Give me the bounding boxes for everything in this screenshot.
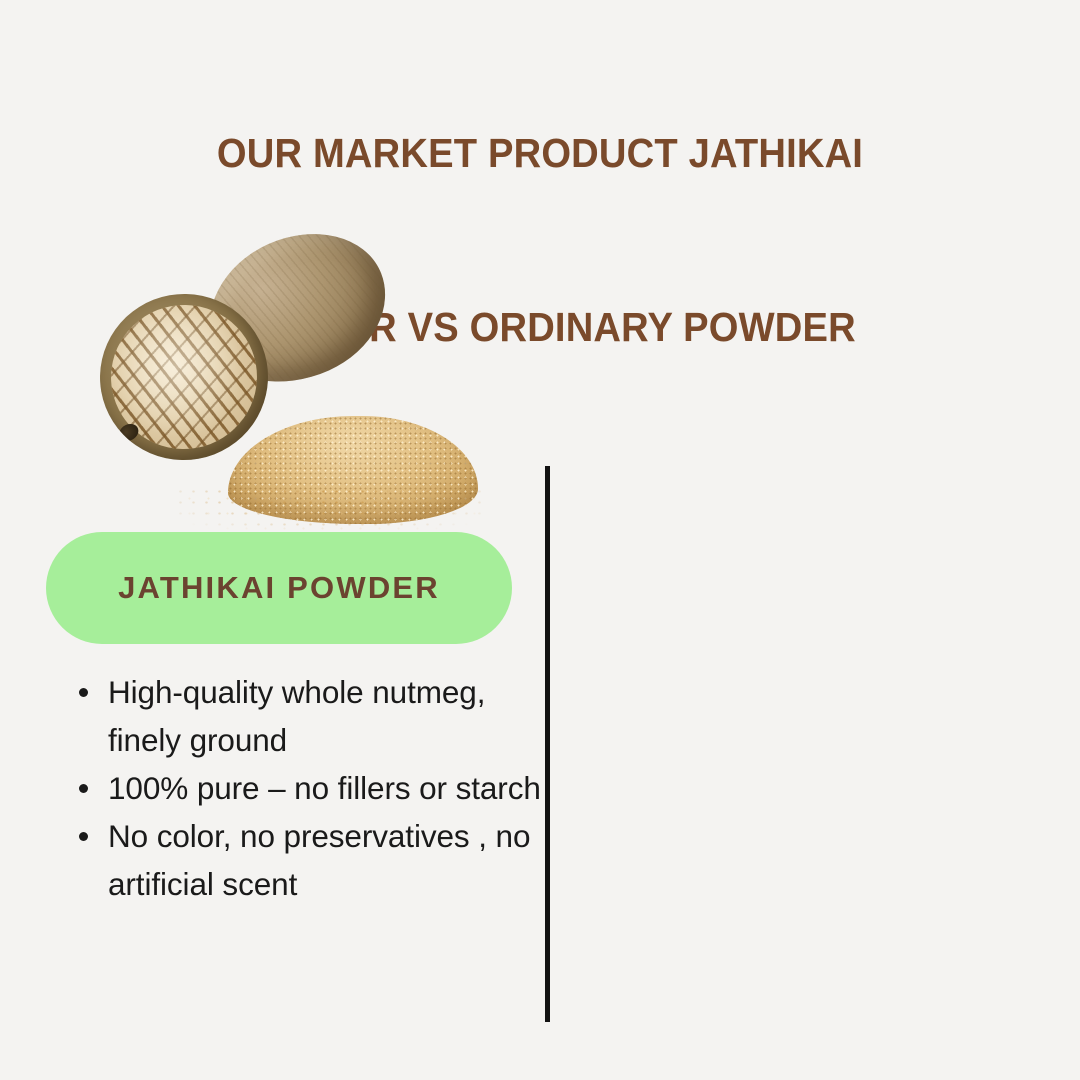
list-item-text: 100% pure – no fillers or starch — [108, 770, 541, 806]
bullet-dot-icon — [79, 832, 88, 841]
list-item-text: High-quality whole nutmeg, finely ground — [108, 674, 485, 758]
comparison-column-left: JATHIKAI POWDER High-quality whole nutme… — [0, 0, 547, 1080]
label-pill-jathikai-powder: JATHIKAI POWDER — [46, 532, 512, 644]
jathikai-powder-product-image — [78, 232, 468, 532]
label-pill-jathikai-powder-text: JATHIKAI POWDER — [118, 570, 440, 606]
comparison-column-right: ORDINARY POWDER May use old or broken nu… — [547, 0, 1080, 1080]
bullet-dot-icon — [79, 688, 88, 697]
nutmeg-powder-pile — [228, 382, 478, 530]
jathikai-powder-benefit-list: High-quality whole nutmeg, finely ground… — [70, 668, 548, 908]
list-item: No color, no preservatives , no artifici… — [70, 812, 548, 908]
bullet-dot-icon — [79, 784, 88, 793]
nutmeg-illustration — [78, 232, 468, 532]
list-item: High-quality whole nutmeg, finely ground — [70, 668, 548, 764]
list-item-text: No color, no preservatives , no artifici… — [108, 818, 530, 902]
list-item: 100% pure – no fillers or starch — [70, 764, 548, 812]
powder-scatter-grains — [174, 486, 484, 532]
